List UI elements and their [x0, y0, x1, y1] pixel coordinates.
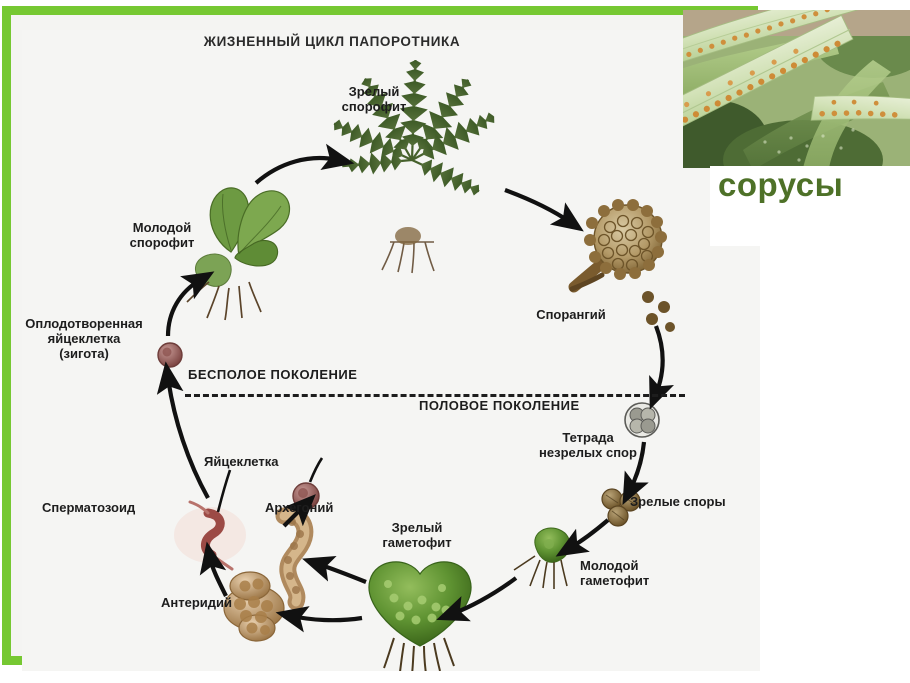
leader-spermatozoon — [218, 470, 230, 512]
arrow-sporophyte-to-sporangium — [505, 190, 570, 222]
art-released-spores — [642, 291, 675, 332]
label-spermatozoon: Сперматозоид — [42, 500, 167, 515]
arrow-sporangium-to-tetrad — [656, 326, 663, 394]
page-title: ЖИЗНЕННЫЙ ЦИКЛ ПАПОРОТНИКА — [22, 34, 642, 49]
label-antheridium: Антеридий — [127, 595, 232, 610]
art-zygote — [158, 343, 182, 367]
label-archegonium: Архегоний — [265, 500, 365, 515]
arrow-gametophyte-to-antheridium — [292, 616, 362, 620]
sori-photo — [683, 10, 910, 168]
label-young-sporophyte: Молодой спорофит — [107, 220, 217, 250]
label-tetrad: Тетрада незрелых спор — [528, 430, 648, 460]
label-asexual-generation: БЕСПОЛОЕ ПОКОЛЕНИЕ — [188, 367, 357, 382]
art-antheridium — [224, 572, 284, 641]
sori-photo-art — [683, 10, 910, 168]
arrow-young-to-mature-sporophyte — [256, 158, 338, 183]
arrow-zygote-to-young-sporophyte — [168, 280, 200, 336]
sori-caption-box: сорусы — [710, 166, 910, 246]
label-mature-spores: Зрелые споры — [630, 494, 760, 509]
arrow-spores-to-young-gametophyte — [570, 520, 608, 548]
label-mature-gametophyte: Зрелый гаметофит — [362, 520, 472, 550]
art-mature-gametophyte — [369, 562, 471, 671]
label-zygote: Оплодотворенная яйцеклетка (зигота) — [22, 316, 154, 361]
arrow-gametophyte-to-archegonium — [318, 564, 366, 582]
art-archegonium — [284, 515, 305, 602]
generation-divider — [185, 394, 685, 397]
label-mature-sporophyte: Зрелый спорофит — [319, 84, 429, 114]
label-sexual-generation: ПОЛОВОЕ ПОКОЛЕНИЕ — [419, 398, 580, 413]
diagram-canvas: ЖИЗНЕННЫЙ ЦИКЛ ПАПОРОТНИКА Зрелый спороф… — [22, 30, 760, 671]
slide-root: ЖИЗНЕННЫЙ ЦИКЛ ПАПОРОТНИКА Зрелый спороф… — [0, 0, 910, 683]
label-young-gametophyte: Молодой гаметофит — [580, 558, 690, 588]
label-sporangium: Спорангий — [522, 307, 620, 322]
diagram-green-frame: ЖИЗНЕННЫЙ ЦИКЛ ПАПОРОТНИКА Зрелый спороф… — [2, 6, 758, 665]
art-young-gametophyte — [514, 528, 570, 589]
sori-caption-text: сорусы — [710, 166, 910, 204]
art-young-sporophyte — [187, 188, 290, 320]
label-egg-cell: Яйцеклетка — [204, 454, 314, 469]
